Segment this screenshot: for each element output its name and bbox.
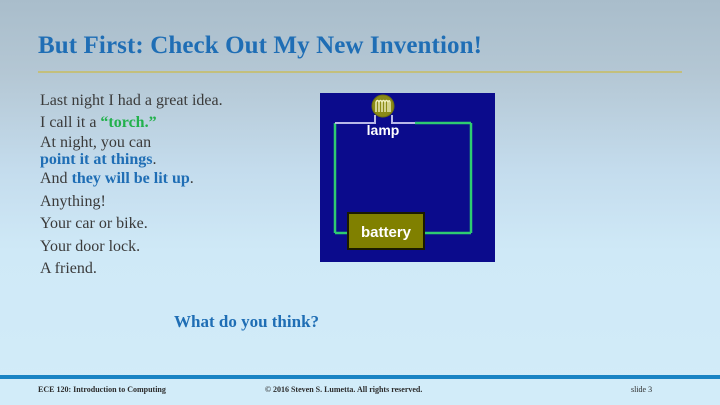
question-prompt: What do you think? [174,312,319,332]
lamp-bulb-icon [372,95,394,117]
body-line-2-prefix: I call it a [40,114,100,131]
body-line-4-suffix: . [190,170,194,187]
footer-course-name: ECE 120: Introduction to Computing [38,385,166,394]
footer-copyright: © 2016 Steven S. Lumetta. All rights res… [265,385,422,394]
body-line-4: And they will be lit up. [40,168,312,190]
footer-slide-number: slide 3 [631,385,652,394]
title-divider [38,71,682,73]
body-line-7: Your door lock. [40,236,312,258]
body-line-3-suffix: . [152,151,156,168]
body-line-3-part-a: At night, you can [40,134,151,151]
lit-up-emphasis: they will be lit up [72,170,190,187]
body-line-4-prefix: And [40,170,72,187]
body-line-6: Your car or bike. [40,213,312,235]
page-title: But First: Check Out My New Invention! [38,32,482,60]
battery-label: battery [361,224,412,241]
lamp-label: lamp [367,122,400,138]
slide-canvas: But First: Check Out My New Invention! L… [0,0,720,405]
torch-circuit-diagram: lamp battery [320,93,495,262]
body-line-3: At night, you can point it at things. [40,135,312,169]
body-line-2: I call it a “torch.” [40,112,312,134]
point-it-at-things-emphasis: point it at things [40,151,152,168]
body-line-5: Anything! [40,191,312,213]
footer: ECE 120: Introduction to Computing © 201… [0,379,720,405]
torch-emphasis: “torch.” [100,114,156,131]
body-line-1: Last night I had a great idea. [40,90,312,112]
body-text-block: Last night I had a great idea. I call it… [40,90,312,280]
body-line-8: A friend. [40,258,312,280]
